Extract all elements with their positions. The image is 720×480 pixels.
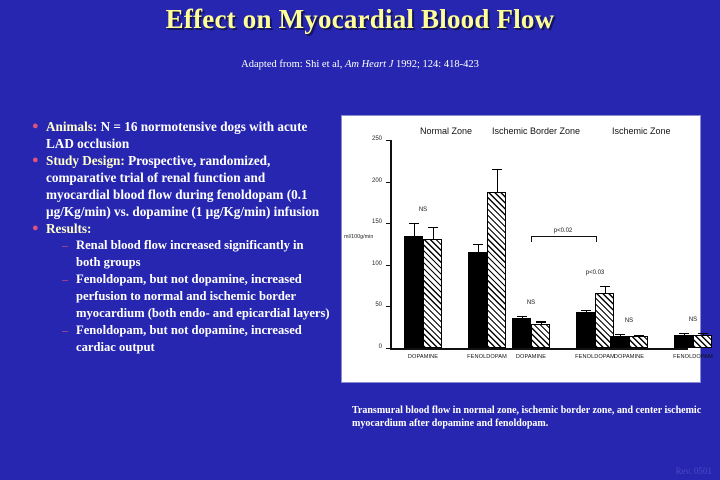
significance-label: NS [668,317,718,323]
bar-normal-zone-fenoldopam-epicardial [487,192,506,348]
error-bar-cap [600,286,610,287]
dash-bullet-icon: – [62,271,76,288]
y-tick-mark [386,306,390,307]
significance-label: NS [604,318,654,324]
significance-label: NS [398,207,448,213]
y-tick-label: 0 [366,344,382,350]
bullet-lead: Results: [46,221,91,236]
sub-bullet-label: Fenoldopam, but not dopamine, increased … [76,271,330,322]
group-label-dopamine: DOPAMINE [603,354,655,360]
bullet-list: ● Animals: N = 16 normotensive dogs with… [30,118,330,356]
bar-ischemic-zone-fenoldopam-epicardial [693,335,712,348]
significance-bracket [531,236,597,242]
x-axis-line [390,348,688,350]
error-bar-cap [581,310,591,311]
citation-prefix: Adapted from: Shi et al, [241,59,345,70]
bullet-dot-icon: ● [30,118,46,135]
error-bar [478,244,479,252]
bar-ischemic-border-zone-dopamine-endocardial [512,318,531,348]
list-item: ● Study Design: Prospective, randomized,… [30,152,330,220]
group-label-dopamine: DOPAMINE [505,354,557,360]
dash-bullet-icon: – [62,237,76,254]
sub-bullet-list: – Renal blood flow increased significant… [62,237,330,356]
error-bar-cap [679,333,689,334]
list-item: – Fenoldopam, but not dopamine, increase… [62,271,330,322]
chart-plot-area: 050100150200250ml/100g/minNormal ZoneDOP… [342,116,700,382]
y-tick-label: 250 [366,136,382,142]
y-tick-mark [386,265,390,266]
list-item: ● Animals: N = 16 normotensive dogs with… [30,118,330,152]
group-label-fenoldopam: FENOLDOPAM [667,354,719,360]
y-tick-label: 100 [366,261,382,267]
bar-ischemic-border-zone-dopamine-epicardial [531,324,550,348]
group-label-dopamine: DOPAMINE [397,354,449,360]
list-item: – Fenoldopam, but not dopamine, increase… [62,322,330,356]
bullet-dot-icon: ● [30,152,46,169]
citation-journal: Am Heart J [345,59,393,70]
citation-suffix: 1992; 124: 418-423 [393,59,478,70]
error-bar-cap [409,223,419,224]
y-tick-label: 50 [366,302,382,308]
sub-bullet-label: Fenoldopam, but not dopamine, increased … [76,322,330,356]
y-tick-mark [386,182,390,183]
y-tick-label: 150 [366,219,382,225]
list-item: ● Results: [30,220,330,237]
sub-bullet-label: Renal blood flow increased significantly… [76,237,330,271]
bullet-lead: Study Design: [46,153,125,168]
error-bar [433,227,434,239]
y-tick-label: 200 [366,178,382,184]
error-bar-cap [634,335,644,336]
error-bar-cap [615,334,625,335]
bracket-significance-label: p<0.02 [531,228,595,234]
y-axis-line [390,140,392,349]
page-title: Effect on Myocardial Blood Flow [0,4,720,35]
significance-label: NS [506,300,556,306]
error-bar-cap [473,244,483,245]
zone-title-1: Normal Zone [420,126,472,136]
bar-ischemic-zone-dopamine-endocardial [610,336,629,348]
figure-caption: Transmural blood flow in normal zone, is… [352,404,702,430]
zone-title-3: Ischemic Zone [612,126,671,136]
bullet-lead: Animals: [46,119,97,134]
error-bar [414,223,415,235]
zone-title-2: Ischemic Border Zone [492,126,580,136]
slide-canvas: Effect on Myocardial Blood Flow Adapted … [0,0,720,480]
bar-ischemic-zone-dopamine-epicardial [629,336,648,348]
bullet-dot-icon: ● [30,220,46,237]
y-tick-mark [386,223,390,224]
figure-bar-chart: 050100150200250ml/100g/minNormal ZoneDOP… [341,115,701,383]
error-bar-cap [698,333,708,334]
bar-ischemic-border-zone-fenoldopam-endocardial [576,312,595,348]
citation: Adapted from: Shi et al, Am Heart J 1992… [0,59,720,70]
bar-normal-zone-dopamine-endocardial [404,236,423,348]
error-bar-cap [536,321,546,322]
revision-label: Rev. 0501 [676,466,712,476]
bar-ischemic-zone-fenoldopam-endocardial [674,335,693,348]
bar-normal-zone-dopamine-epicardial [423,239,442,348]
y-axis-title: ml/100g/min [344,234,373,240]
bar-normal-zone-fenoldopam-endocardial [468,252,487,348]
dash-bullet-icon: – [62,322,76,339]
y-tick-mark [386,140,390,141]
y-tick-mark [386,348,390,349]
error-bar [497,169,498,191]
error-bar-cap [517,316,527,317]
error-bar-cap [492,169,502,170]
list-item: – Renal blood flow increased significant… [62,237,330,271]
error-bar-cap [428,227,438,228]
significance-label: p<0.03 [570,270,620,276]
